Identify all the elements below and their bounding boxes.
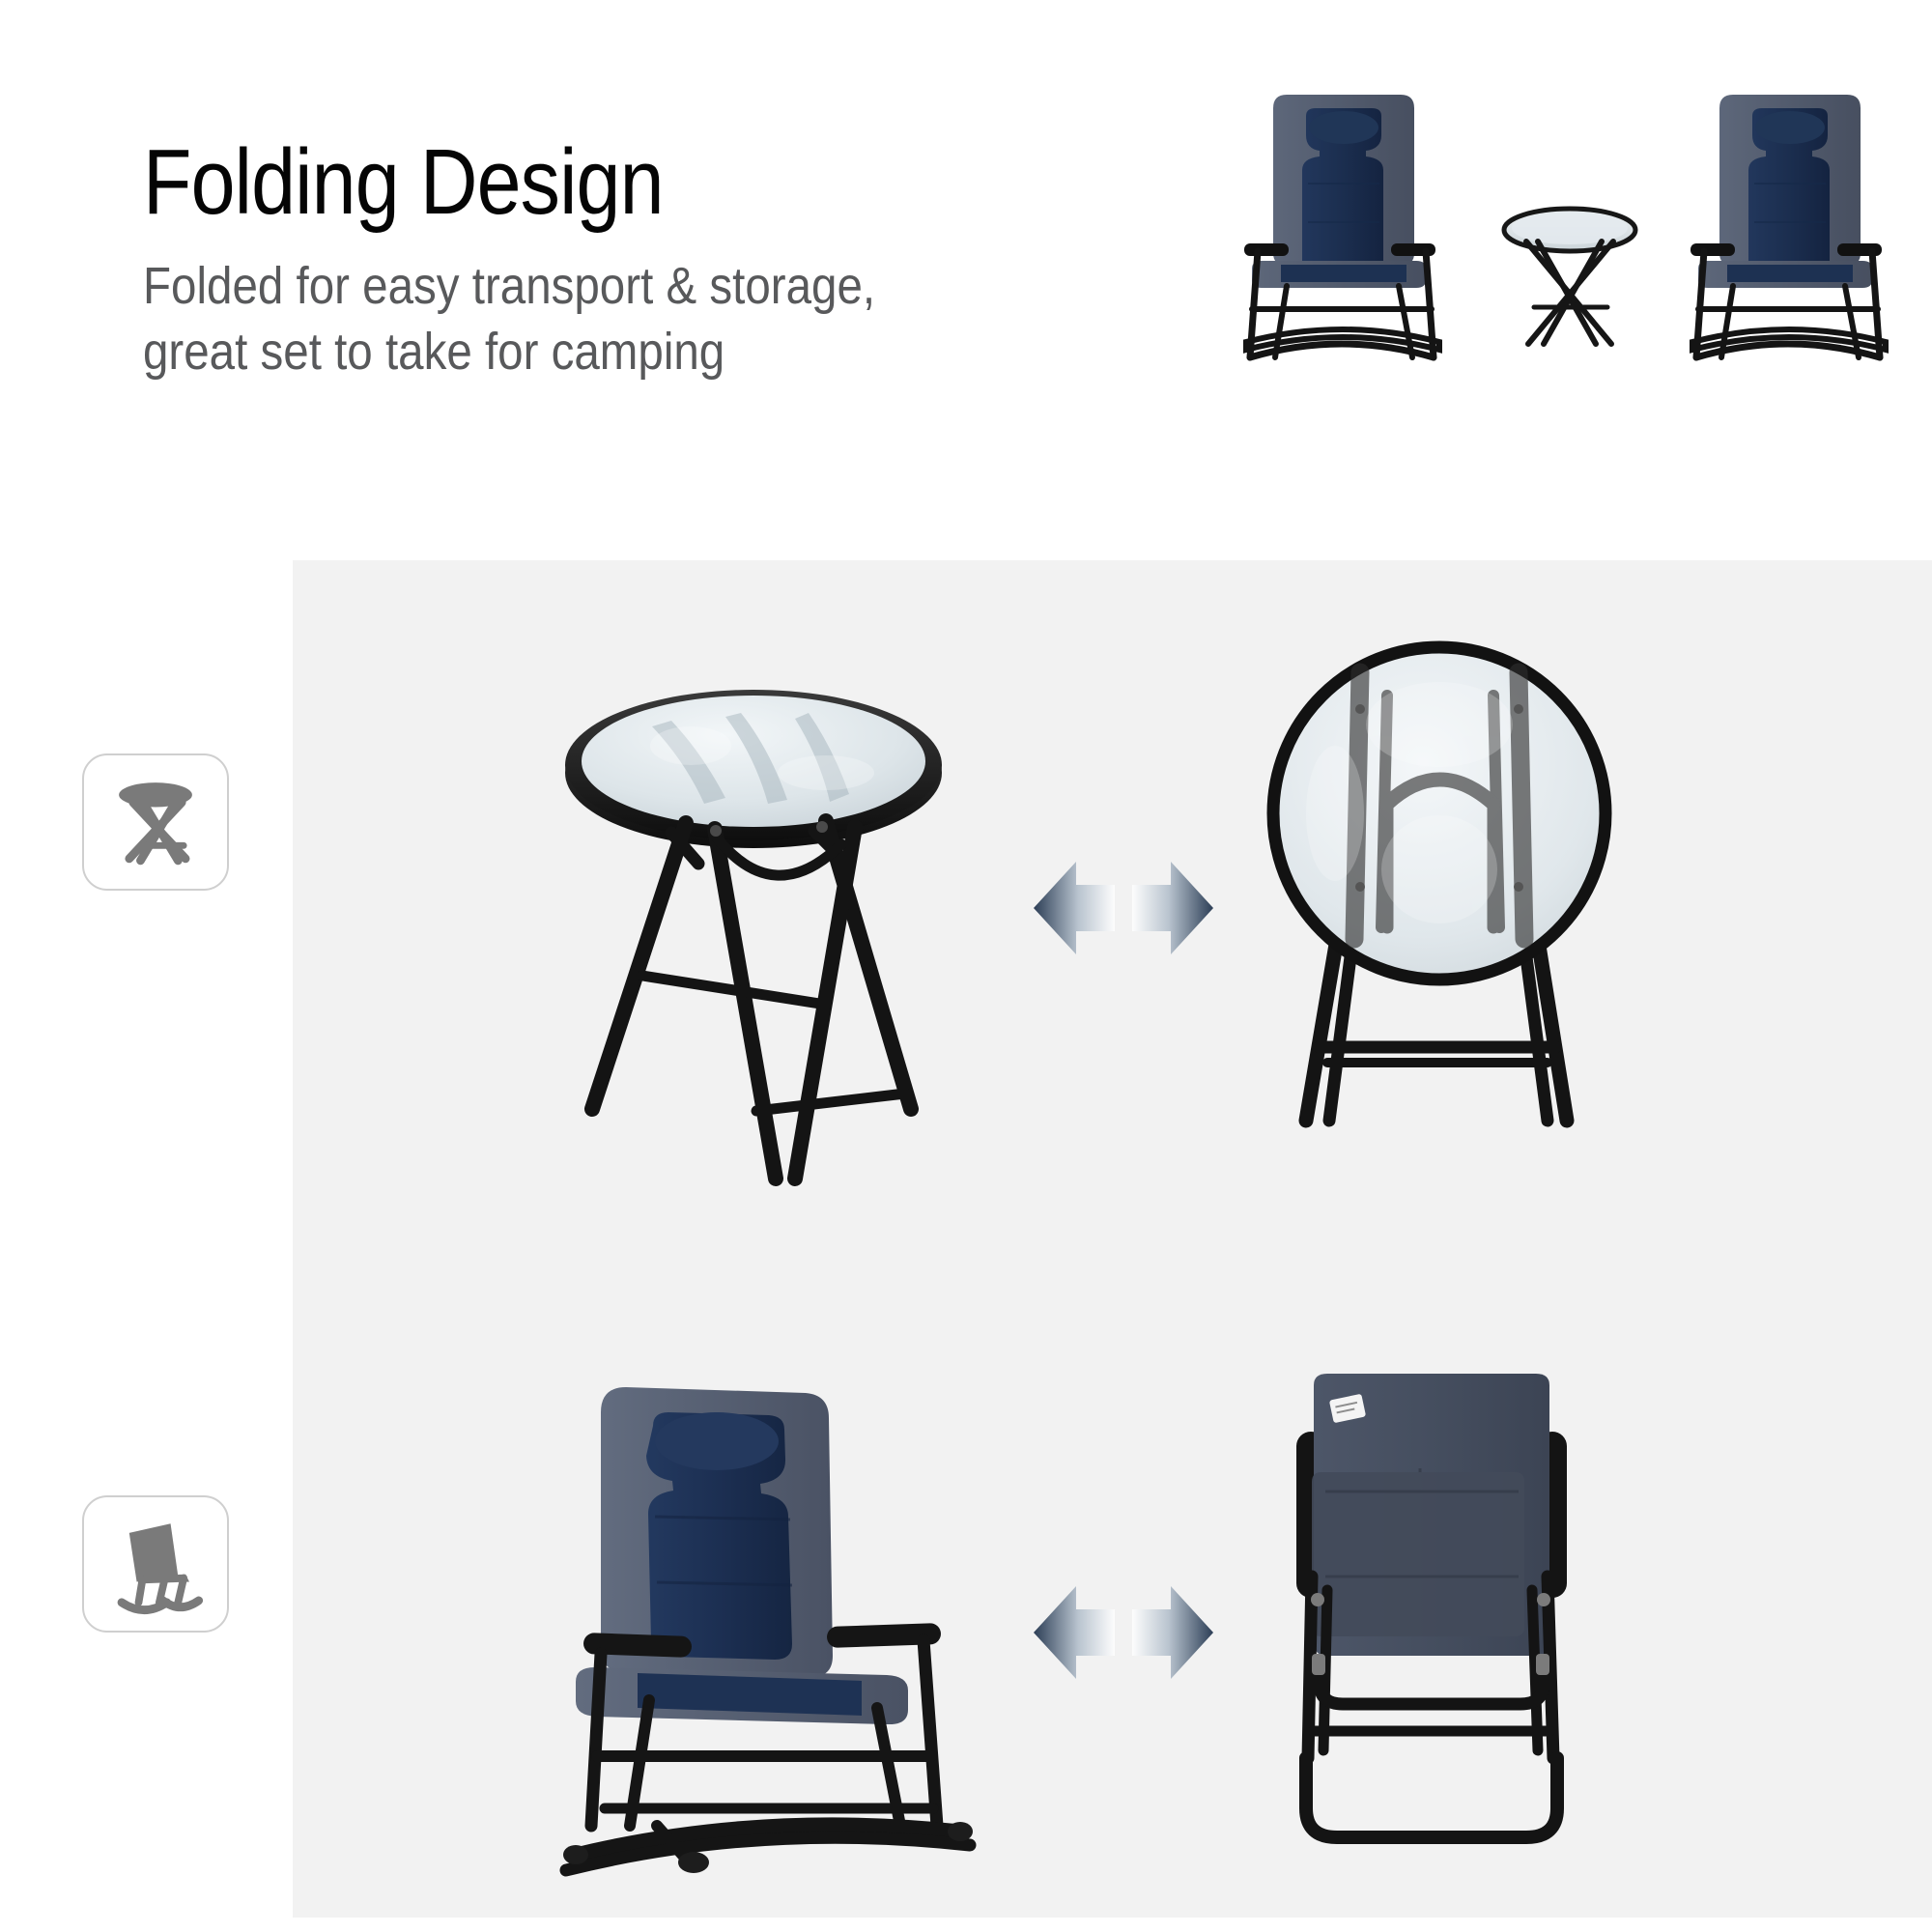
hero-chair-left bbox=[1244, 95, 1439, 357]
hero-chair-right bbox=[1690, 95, 1886, 357]
product-table-folded bbox=[1246, 638, 1633, 1207]
sidebar-item-folding-table[interactable] bbox=[82, 753, 229, 891]
page-subtitle: Folded for easy transport & storage, gre… bbox=[143, 253, 1018, 384]
fold-arrow-table bbox=[1032, 850, 1215, 966]
page-subtitle-line-2: great set to take for camping bbox=[143, 319, 1018, 384]
folding-table-icon bbox=[84, 755, 227, 889]
fold-arrow-chair bbox=[1032, 1575, 1215, 1690]
header: Folding Design Folded for easy transport… bbox=[143, 133, 1138, 384]
arrow-left-icon bbox=[1034, 1586, 1115, 1679]
page-subtitle-line-1: Folded for easy transport & storage, bbox=[143, 253, 1018, 319]
hero-side-table bbox=[1504, 209, 1635, 344]
arrow-right-icon bbox=[1132, 1586, 1213, 1679]
product-table-unfolded bbox=[536, 657, 971, 1207]
page-title: Folding Design bbox=[143, 133, 999, 232]
product-chair-folded bbox=[1275, 1372, 1662, 1913]
rocking-chair-icon bbox=[84, 1497, 227, 1631]
arrow-left-icon bbox=[1034, 862, 1115, 954]
hero-product-group bbox=[1236, 68, 1903, 435]
arrow-right-icon bbox=[1132, 862, 1213, 954]
sidebar-item-rocking-chair[interactable] bbox=[82, 1495, 229, 1633]
product-chair-unfolded bbox=[541, 1372, 995, 1913]
infographic-page: Folding Design Folded for easy transport… bbox=[0, 0, 1932, 1932]
